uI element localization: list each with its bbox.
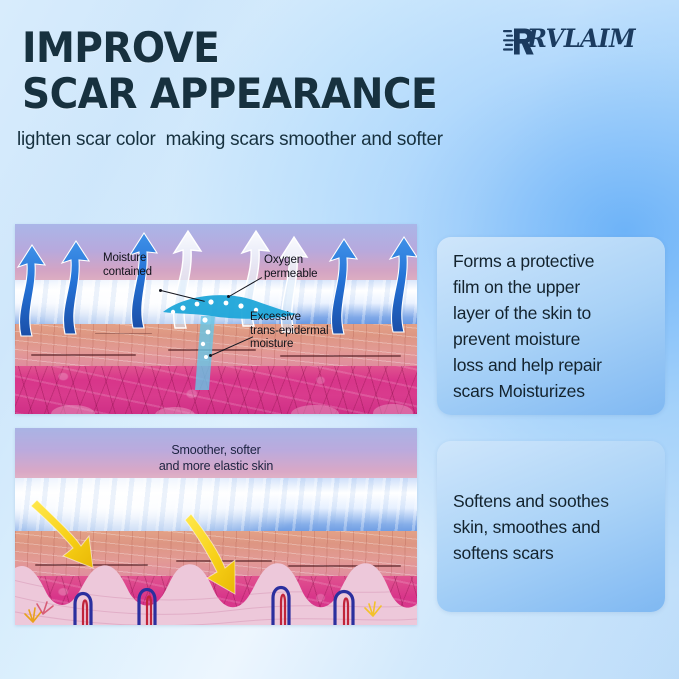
benefit-card-softens: Softens and soothes skin, smoothes and s… [437,441,665,612]
leader-dot-excessive [209,354,212,357]
brand-name: RVLAIM [527,24,635,53]
moisture-arrow-dark [18,233,417,336]
benefit-card-text: Forms a protective film on the upper lay… [437,248,602,404]
page-title: IMPROVE SCAR APPEARANCE [22,25,506,117]
benefit-card-text: Softens and soothes skin, smoothes and s… [437,488,609,566]
benefit-card-protective-film: Forms a protective film on the upper lay… [437,237,665,415]
leader-dot-moisture [159,289,162,292]
label-excessive-moisture: Excessive trans-epidermal moisture [250,311,328,352]
panel1-overlay [15,224,417,414]
smoother-skin-diagram: Smoother, softer and more elastic skin [15,428,417,625]
caption-smoother-skin: Smoother, softer and more elastic skin [116,442,316,474]
moisture-barrier-diagram: Moisture contained Oxygen permeable Exce… [15,224,417,414]
page-subtitle: lighten scar color making scars smoother… [17,127,443,151]
leader-dot-oxygen [227,295,230,298]
infographic-page: IMPROVE SCAR APPEARANCE lighten scar col… [0,0,679,679]
label-moisture-contained: Moisture contained [103,252,152,279]
brand-logo: RVLAIM [503,26,653,60]
header: IMPROVE SCAR APPEARANCE lighten scar col… [0,0,679,205]
label-oxygen-permeable: Oxygen permeable [264,254,317,281]
